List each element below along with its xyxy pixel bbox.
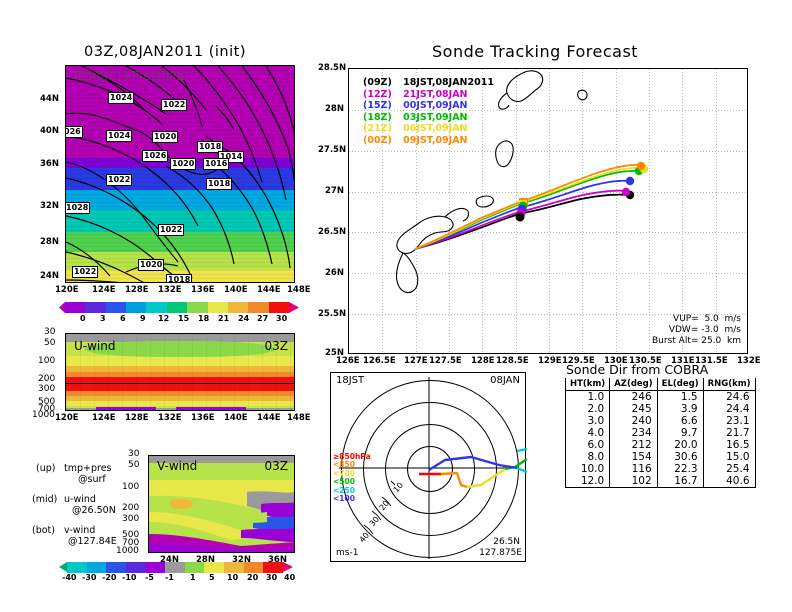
svg-text:10: 10 <box>392 481 405 495</box>
table-cell-el: 30.6 <box>657 451 703 463</box>
legend-code: (18Z) <box>363 112 392 123</box>
sonde-xtick: 128E <box>471 356 495 366</box>
v-wind-panel: V-wind 03Z <box>148 455 295 553</box>
table-cell-ht: 12.0 <box>566 475 610 488</box>
table-cell-ht: 10.0 <box>566 463 610 475</box>
v-wind-ytick: 200 <box>122 503 139 513</box>
synoptic-ytick: 32N <box>40 201 59 211</box>
synoptic-xtick: 148E <box>287 285 311 295</box>
synoptic-ytick: 44N <box>40 94 59 104</box>
u-wind-xtick: 120E <box>55 413 79 423</box>
table-cell-rng: 15.0 <box>703 451 755 463</box>
hodograph-date: 08JAN <box>490 375 520 386</box>
table-cell-rng: 40.6 <box>703 475 755 488</box>
sonde-table-title: Sonde Dir from COBRA <box>566 362 708 377</box>
sonde-velocity-info: VUP= 5.0 m/s VDW= -3.0 m/s Burst Alt= 25… <box>652 314 741 347</box>
temp-colorbar-right-cap <box>289 302 299 313</box>
u-wind-ytick: 100 <box>38 356 55 366</box>
v-wind-ytick: 100 <box>122 482 139 492</box>
temp-cb-tick: 27 <box>257 314 268 323</box>
sonde-ytick: 28N <box>325 104 344 114</box>
v-wind-ytick: 300 <box>122 514 139 524</box>
sonde-xtick: 127E <box>404 356 428 366</box>
table-row: 1.02461.524.6 <box>566 391 756 404</box>
v-wind-time: 03Z <box>265 459 289 473</box>
u-wind-xtick: 136E <box>191 413 215 423</box>
synoptic-overlay-label: Temp(C)+Pres(hPa) <box>72 69 188 83</box>
table-cell-ht: 2.0 <box>566 403 610 415</box>
wind-colorbar <box>67 562 283 572</box>
sonde-xtick: 132E <box>737 356 761 366</box>
legend-text: 03JST,09JAN <box>403 112 467 123</box>
temp-cb-tick: 30 <box>276 314 287 323</box>
wind-colorbar-left-cap <box>59 562 67 572</box>
hodograph-units: ms-1 <box>336 548 358 558</box>
synoptic-ytick: 36N <box>40 159 59 169</box>
isobar-label: 1016 <box>203 158 229 170</box>
note-up-line1: tmp+pres <box>64 463 112 474</box>
legend-code: (15Z) <box>363 100 392 111</box>
wind-cb-tick: -10 <box>122 573 136 582</box>
table-cell-az: 212 <box>610 439 657 451</box>
note-up-line2: @surf <box>78 474 106 485</box>
note-mid-line1: u-wind <box>64 494 96 505</box>
table-cell-ht: 3.0 <box>566 415 610 427</box>
svg-text:30: 30 <box>368 515 381 529</box>
u-wind-title: U-wind <box>74 339 115 353</box>
table-cell-az: 246 <box>610 391 657 404</box>
synoptic-title: 03Z,08JAN2011 (init) <box>84 44 246 60</box>
table-cell-rng: 23.1 <box>703 415 755 427</box>
sonde-xtick: 127.5E <box>429 356 462 366</box>
u-wind-ytick: 1000 <box>32 410 55 420</box>
isobar-label: 1020 <box>170 158 196 170</box>
isobar-label: 1022 <box>72 266 98 278</box>
table-cell-az: 116 <box>610 463 657 475</box>
temp-cb-tick: 3 <box>100 314 106 323</box>
table-cell-rng: 25.4 <box>703 463 755 475</box>
table-row: 3.02406.623.1 <box>566 415 756 427</box>
hodograph-legend-item: <100 <box>333 495 371 503</box>
table-header-row: HT(km) AZ(deg) EL(deg) RNG(km) <box>566 378 756 391</box>
isobar-label: 026 <box>65 126 83 138</box>
legend-text: 00JST,09JAN <box>403 100 467 111</box>
isobar-label: 1026 <box>142 150 168 162</box>
wind-cb-tick: -1 <box>165 573 174 582</box>
table-cell-rng: 16.5 <box>703 439 755 451</box>
table-cell-ht: 6.0 <box>566 439 610 451</box>
table-cell-el: 9.7 <box>657 427 703 439</box>
temp-cb-tick: 18 <box>198 314 209 323</box>
synoptic-xtick: 128E <box>125 285 149 295</box>
legend-text: 21JST,08JAN <box>403 89 467 100</box>
u-wind-ytick: 300 <box>38 384 55 394</box>
synoptic-xtick: 120E <box>55 285 79 295</box>
legend-code: (21Z) <box>363 123 392 134</box>
sonde-legend-row: (21Z) 06JST,09JAN <box>363 123 494 135</box>
col-el: EL(deg) <box>657 378 703 391</box>
legend-text: 18JST,08JAN2011 <box>403 77 494 88</box>
synoptic-ytick: 28N <box>40 237 59 247</box>
table-row: 2.02453.924.4 <box>566 403 756 415</box>
sonde-ytick: 26N <box>325 268 344 278</box>
synoptic-ytick: 24N <box>40 271 59 281</box>
synoptic-xtick: 124E <box>92 285 116 295</box>
synoptic-ytick: 40N <box>40 126 59 136</box>
table-cell-el: 20.0 <box>657 439 703 451</box>
isobar-label: 1018 <box>206 178 232 190</box>
svg-text:40: 40 <box>358 531 371 545</box>
sonde-legend-row: (12Z) 21JST,08JAN <box>363 89 494 101</box>
u-wind-panel: U-wind 03Z <box>65 333 295 411</box>
note-bot-line1: v-wind <box>64 525 95 536</box>
table-row: 8.015430.615.0 <box>566 451 756 463</box>
u-wind-xtick: 148E <box>287 413 311 423</box>
temp-cb-tick: 0 <box>80 314 86 323</box>
wind-cb-tick: 5 <box>209 573 215 582</box>
isobar-label: 1020 <box>152 131 178 143</box>
temp-cb-tick: 24 <box>238 314 249 323</box>
legend-code: (12Z) <box>363 89 392 100</box>
isobar-label: 1024 <box>108 92 134 104</box>
sonde-title: Sonde Tracking Forecast <box>432 42 638 61</box>
table-row: 4.02349.721.7 <box>566 427 756 439</box>
sonde-legend-row: (15Z) 00JST,09JAN <box>363 100 494 112</box>
col-rng: RNG(km) <box>703 378 755 391</box>
legend-text: 09JST,09JAN <box>403 135 467 146</box>
temp-cb-tick: 9 <box>140 314 146 323</box>
wind-cb-tick: -20 <box>102 573 116 582</box>
sonde-legend-row: (18Z) 03JST,09JAN <box>363 112 494 124</box>
isobar-label: 1022 <box>158 224 184 236</box>
sonde-xtick: 126E <box>336 356 360 366</box>
table-cell-el: 3.9 <box>657 403 703 415</box>
wind-cb-tick: -40 <box>62 573 76 582</box>
sonde-ytick: 27N <box>325 186 344 196</box>
sonde-xtick: 128.5E <box>496 356 529 366</box>
col-ht: HT(km) <box>566 378 610 391</box>
table-cell-ht: 8.0 <box>566 451 610 463</box>
hodograph-time: 18JST <box>336 375 364 386</box>
u-wind-time: 03Z <box>265 339 289 353</box>
note-bot-line2: @127.84E <box>68 536 117 547</box>
table-cell-az: 154 <box>610 451 657 463</box>
table-row: 12.010216.740.6 <box>566 475 756 488</box>
note-mid-tag: (mid) <box>32 494 57 505</box>
temp-cb-tick: 15 <box>178 314 189 323</box>
sonde-ytick: 28.5N <box>318 63 346 73</box>
wind-cb-tick: 10 <box>227 573 238 582</box>
wind-cb-tick: -30 <box>82 573 96 582</box>
table-cell-el: 22.3 <box>657 463 703 475</box>
u-wind-ytick: 50 <box>44 338 55 348</box>
table-cell-el: 1.5 <box>657 391 703 404</box>
sonde-tracking-map: (09Z) 18JST,08JAN2011 (12Z) 21JST,08JAN … <box>348 68 748 354</box>
svg-text:20: 20 <box>378 499 391 513</box>
hodograph-lat: 26.5N <box>493 537 520 547</box>
table-cell-ht: 4.0 <box>566 427 610 439</box>
table-cell-rng: 21.7 <box>703 427 755 439</box>
u-wind-xtick: 124E <box>92 413 116 423</box>
table-cell-el: 16.7 <box>657 475 703 488</box>
synoptic-xtick: 140E <box>224 285 248 295</box>
table-cell-az: 234 <box>610 427 657 439</box>
sonde-direction-table: HT(km) AZ(deg) EL(deg) RNG(km) 1.02461.5… <box>565 378 756 488</box>
sonde-xtick: 129E <box>538 356 562 366</box>
u-wind-ytick: 200 <box>38 374 55 384</box>
v-wind-ytick: 1000 <box>116 546 139 556</box>
sonde-ytick: 27.5N <box>318 145 346 155</box>
note-up-tag: (up) <box>36 463 55 474</box>
wind-colorbar-right-cap <box>283 562 293 572</box>
table-cell-az: 240 <box>610 415 657 427</box>
note-mid-line2: @26.50N <box>72 505 116 516</box>
table-row: 6.021220.016.5 <box>566 439 756 451</box>
sonde-legend-row: (09Z) 18JST,08JAN2011 <box>363 77 494 89</box>
note-bot-tag: (bot) <box>32 525 55 536</box>
legend-code: (09Z) <box>363 77 392 88</box>
synoptic-xtick: 132E <box>158 285 182 295</box>
table-cell-ht: 1.0 <box>566 391 610 404</box>
temp-colorbar <box>65 302 289 313</box>
sonde-ytick: 25.5N <box>318 309 346 319</box>
v-wind-title: V-wind <box>157 459 197 473</box>
temp-cb-tick: 21 <box>218 314 229 323</box>
isobar-label: 1022 <box>161 99 187 111</box>
isobar-label: 1022 <box>106 174 132 186</box>
sonde-legend-row: (00Z) 09JST,09JAN <box>363 135 494 147</box>
synoptic-xtick: 144E <box>257 285 281 295</box>
table-cell-rng: 24.4 <box>703 403 755 415</box>
u-wind-xtick: 144E <box>257 413 281 423</box>
v-wind-ytick: 30 <box>128 449 139 459</box>
legend-code: (00Z) <box>363 135 392 146</box>
col-az: AZ(deg) <box>610 378 657 391</box>
table-cell-el: 6.6 <box>657 415 703 427</box>
sonde-xtick: 126.5E <box>363 356 396 366</box>
u-wind-xtick: 128E <box>125 413 149 423</box>
u-wind-xtick: 132E <box>158 413 182 423</box>
temp-cb-tick: 6 <box>120 314 126 323</box>
wind-cb-tick: 20 <box>247 573 258 582</box>
table-cell-az: 245 <box>610 403 657 415</box>
u-wind-ytick: 30 <box>44 327 55 337</box>
hodograph-panel: 10 20 30 40 18JST 08JAN ms-1 26.5N 127.8… <box>330 372 526 562</box>
sonde-ytick: 26.5N <box>318 227 346 237</box>
u-wind-xtick: 140E <box>224 413 248 423</box>
table-row: 10.011622.325.4 <box>566 463 756 475</box>
v-wind-ytick: 50 <box>128 460 139 470</box>
table-cell-rng: 24.6 <box>703 391 755 404</box>
synoptic-xtick: 136E <box>191 285 215 295</box>
legend-text: 06JST,09JAN <box>403 123 467 134</box>
synoptic-map: Temp(C)+Pres(hPa) 1024 1022 026 1024 102… <box>65 65 295 283</box>
isobar-label: 1020 <box>138 259 164 271</box>
isobar-label: 1024 <box>106 130 132 142</box>
wind-cb-tick: 1 <box>190 573 196 582</box>
hodograph-lon: 127.875E <box>479 548 522 558</box>
wind-cb-tick: 40 <box>284 573 295 582</box>
wind-cb-tick: 30 <box>266 573 277 582</box>
isobar-label: 1028 <box>65 202 90 214</box>
table-cell-az: 102 <box>610 475 657 488</box>
wind-cb-tick: -5 <box>145 573 154 582</box>
temp-cb-tick: 12 <box>158 314 169 323</box>
isobar-label: 1018 <box>166 274 192 283</box>
